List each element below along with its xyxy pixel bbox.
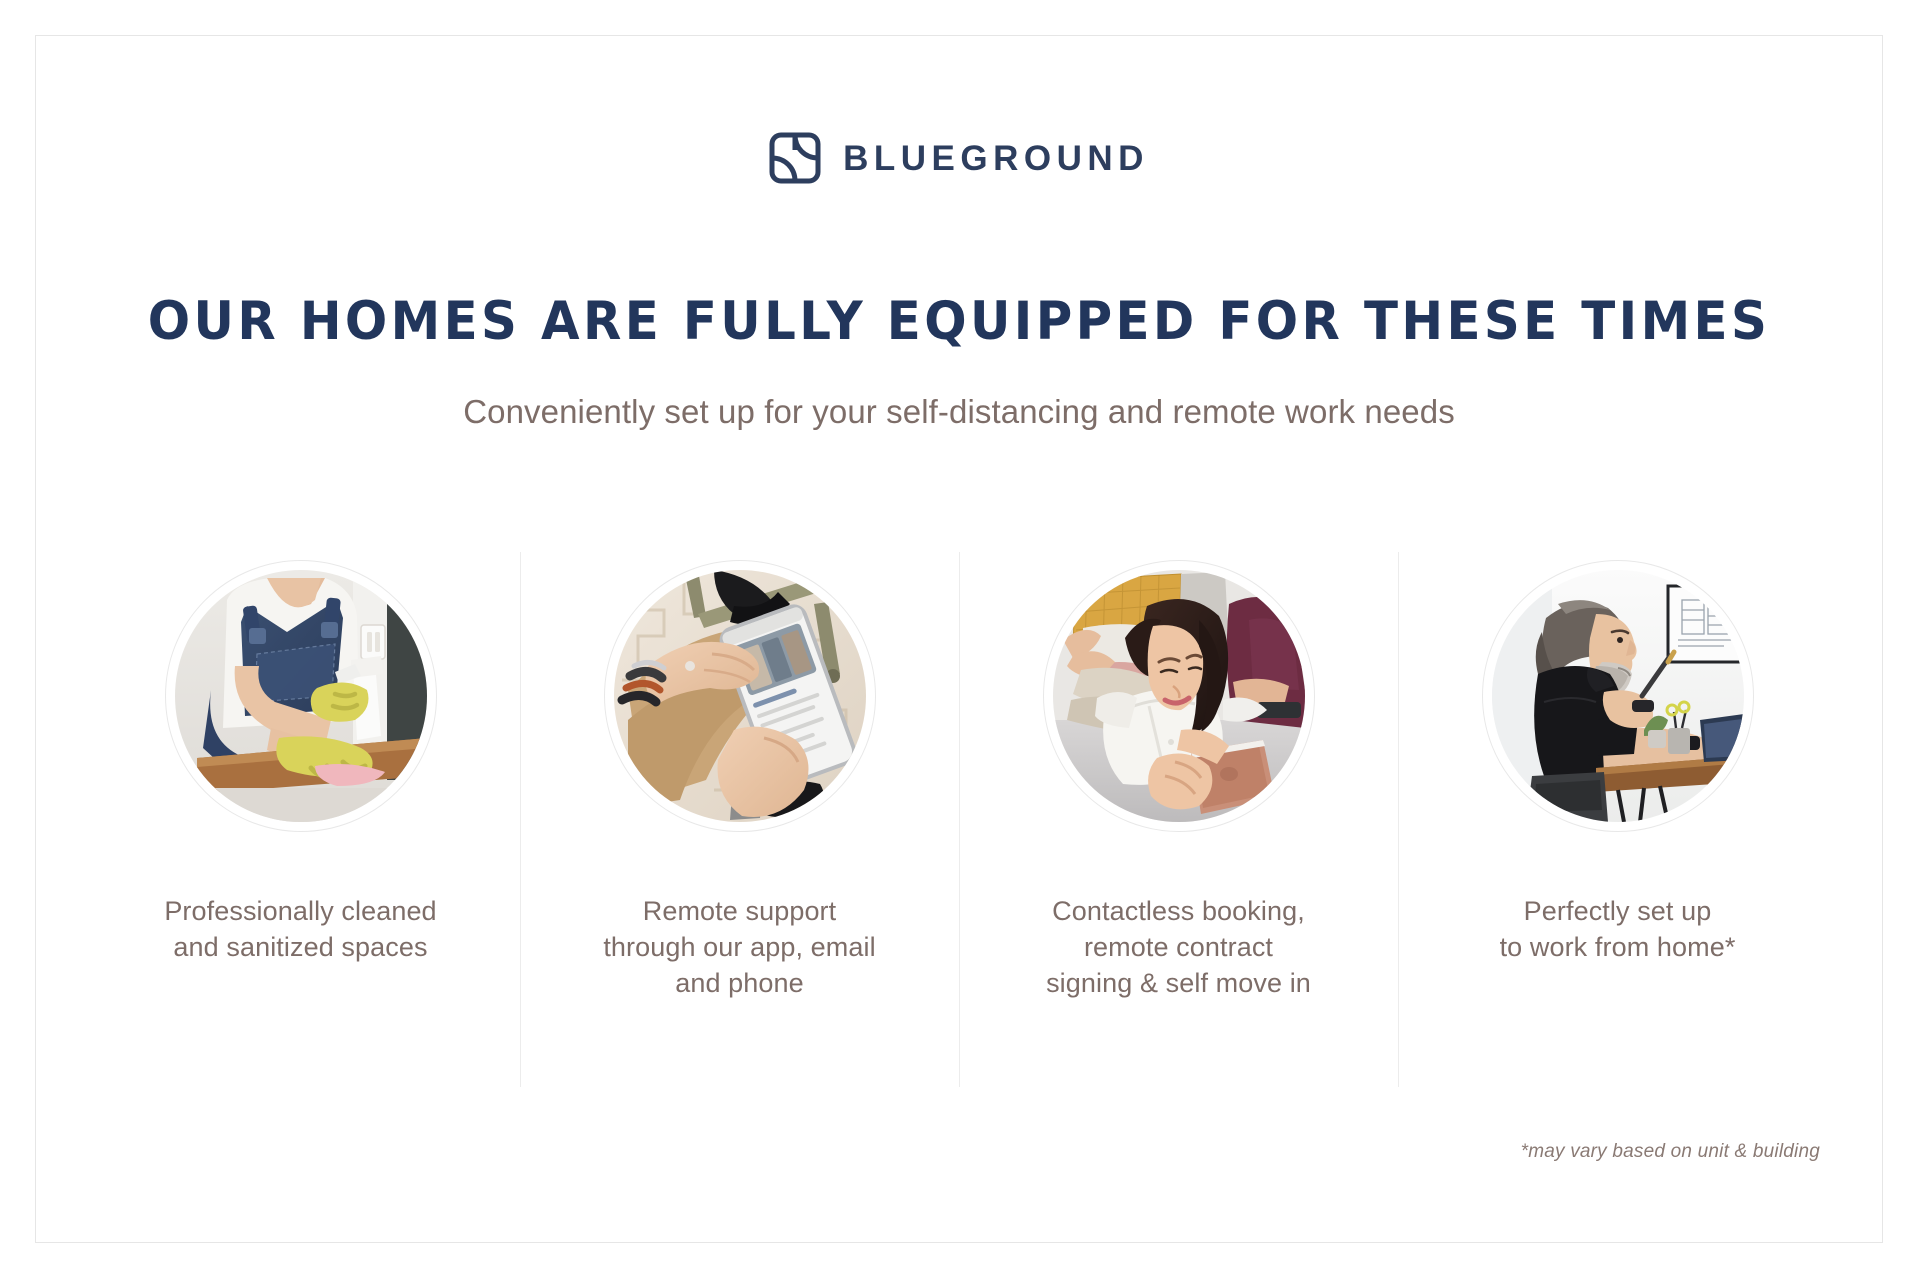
page-title: OUR HOMES ARE FULLY EQUIPPED FOR THESE T… [91, 294, 1826, 350]
feature-column-contactless-booking: Contactless booking, remote contract sig… [959, 552, 1398, 1087]
photo-ring [604, 560, 876, 832]
feature-column-work-from-home: Perfectly set up to work from home* [1398, 552, 1837, 1087]
feature-caption: Remote support through our app, email an… [603, 894, 875, 1002]
caption-line: Perfectly set up [1500, 894, 1736, 930]
caption-line: remote contract [1046, 930, 1311, 966]
blueground-square-logo-icon [769, 132, 821, 184]
poster-canvas: BLUEGROUND OUR HOMES ARE FULLY EQUIPPED … [35, 35, 1883, 1243]
caption-line: through our app, email [603, 930, 875, 966]
feature-column-remote-support: Remote support through our app, email an… [520, 552, 959, 1087]
feature-columns: Professionally cleaned and sanitized spa… [81, 552, 1837, 1087]
page-subtitle: Conveniently set up for your self-distan… [36, 391, 1882, 434]
caption-line: Remote support [603, 894, 875, 930]
photo-desk-laptop-image [1492, 570, 1744, 822]
photo-ring [1043, 560, 1315, 832]
photo-tablet-bed-image [1053, 570, 1305, 822]
photo-ring [165, 560, 437, 832]
caption-line: Professionally cleaned [164, 894, 436, 930]
brand-logo: BLUEGROUND [36, 132, 1882, 184]
feature-caption: Contactless booking, remote contract sig… [1046, 894, 1311, 1002]
footnote-disclaimer: *may vary based on unit & building [1521, 1141, 1820, 1163]
caption-line: Contactless booking, [1046, 894, 1311, 930]
caption-line: signing & self move in [1046, 966, 1311, 1002]
photo-ring [1482, 560, 1754, 832]
caption-line: and phone [603, 966, 875, 1002]
brand-wordmark: BLUEGROUND [843, 141, 1149, 176]
feature-caption: Professionally cleaned and sanitized spa… [164, 894, 436, 966]
caption-line: and sanitized spaces [164, 930, 436, 966]
photo-phone-app-image [614, 570, 866, 822]
feature-column-cleaning: Professionally cleaned and sanitized spa… [81, 552, 520, 1087]
photo-cleaning-image [175, 570, 427, 822]
caption-line: to work from home* [1500, 930, 1736, 966]
feature-caption: Perfectly set up to work from home* [1500, 894, 1736, 966]
